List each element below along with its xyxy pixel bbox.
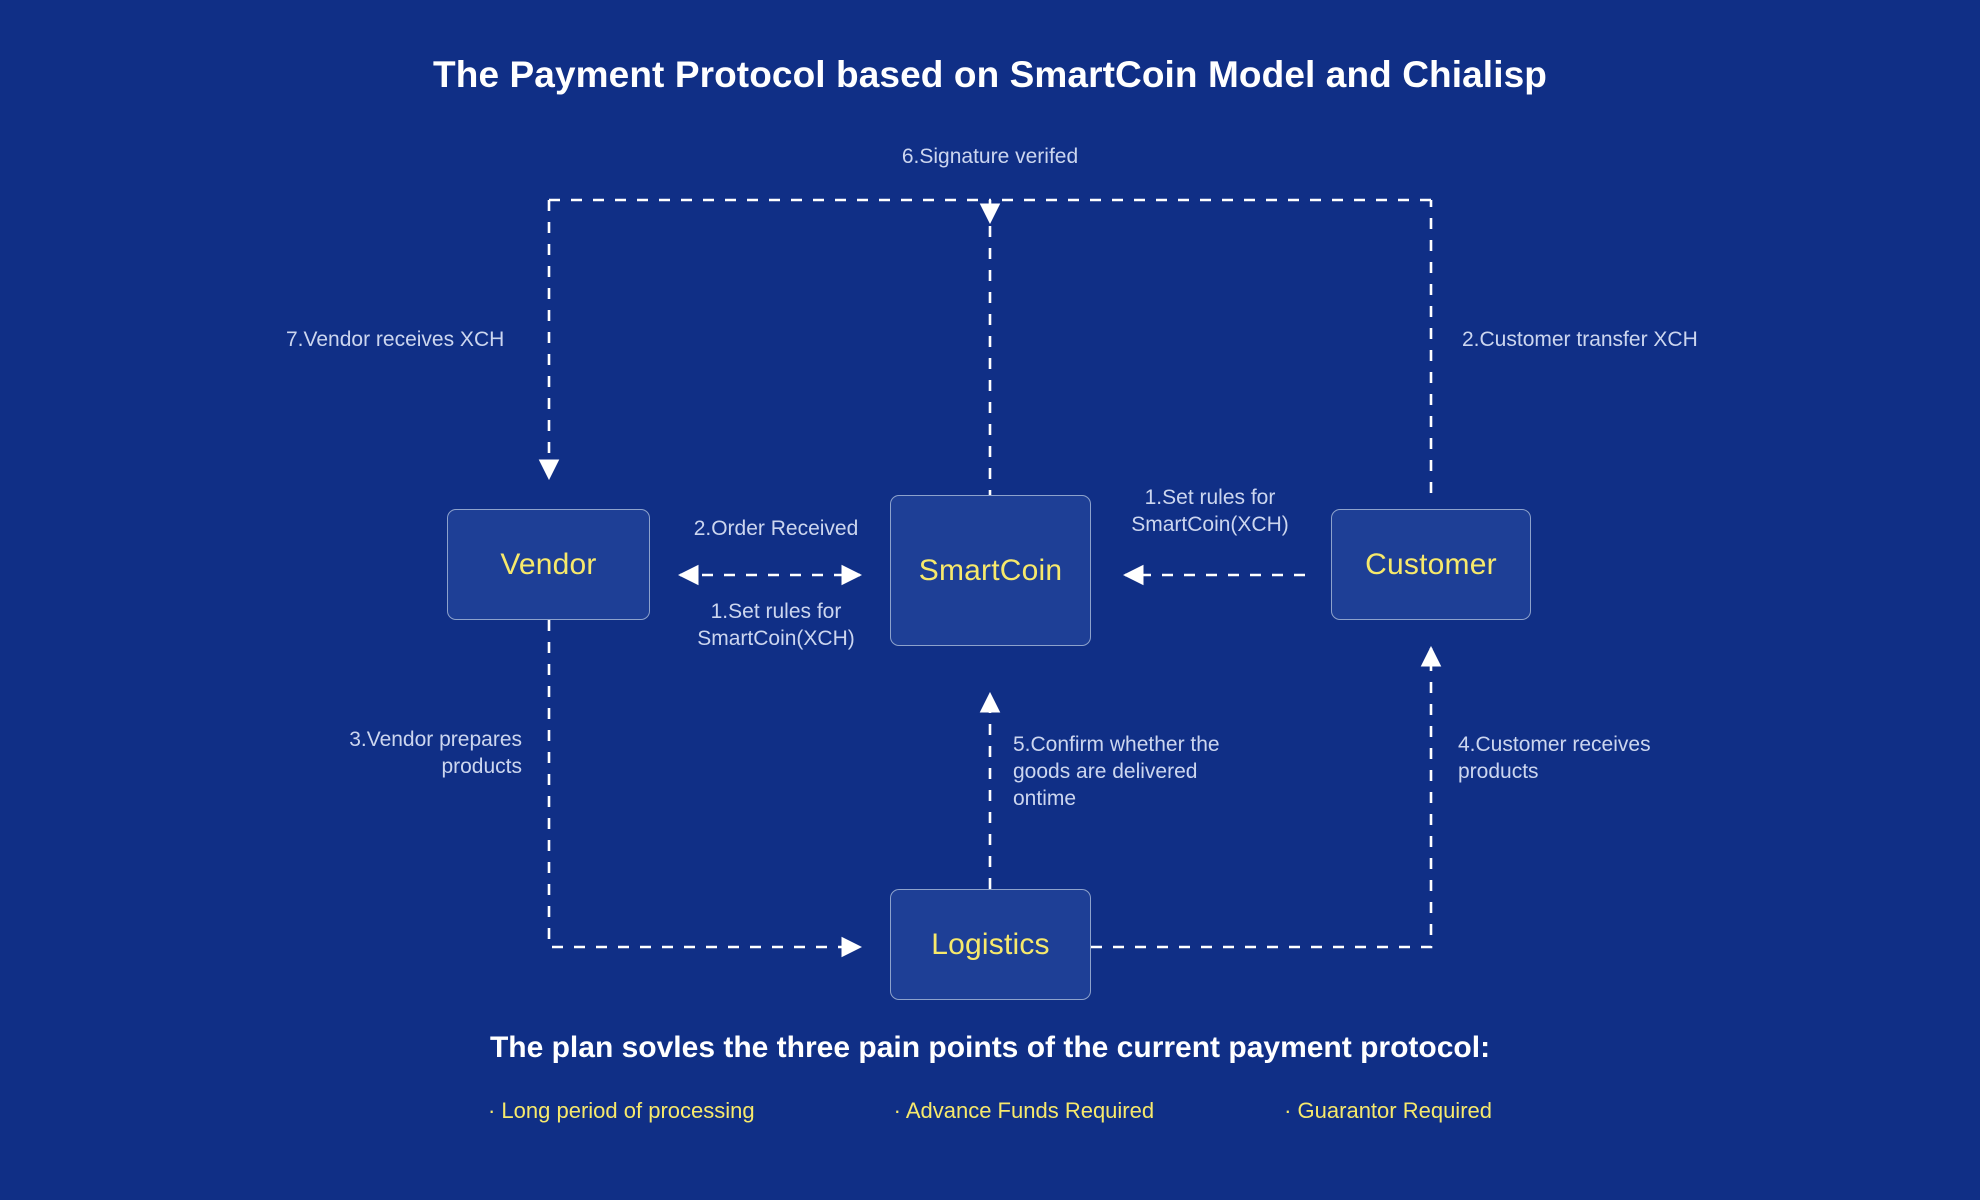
pain-point-item: · Guarantor Required (1284, 1098, 1492, 1124)
edge-label-signature-verified: 6.Signature verifed (0, 144, 1980, 171)
footer-heading: The plan sovles the three pain points of… (0, 1031, 1980, 1065)
diagram-canvas: The Payment Protocol based on SmartCoin … (0, 0, 1980, 1200)
node-smartcoin-label: SmartCoin (919, 554, 1063, 588)
edge-label-customer-transfer-xch: 2.Customer transfer XCH (1462, 327, 1782, 354)
pain-points-row: · Long period of processing · Advance Fu… (0, 1098, 1980, 1124)
edge-label-vendor-receives-xch: 7.Vendor receives XCH (286, 327, 524, 354)
pain-point-item: · Advance Funds Required (894, 1098, 1155, 1124)
edge-label-set-rules-customer: 1.Set rules for SmartCoin(XCH) (1085, 485, 1335, 539)
edge-label-confirm-delivery: 5.Confirm whether the goods are delivere… (1013, 732, 1273, 813)
node-customer[interactable]: Customer (1331, 509, 1531, 620)
edge-label-vendor-prepares-products: 3.Vendor prepares products (300, 727, 522, 781)
edge-label-order-received: 2.Order Received (616, 516, 936, 543)
edge-label-set-rules-vendor: 1.Set rules for SmartCoin(XCH) (616, 599, 936, 653)
edge-vendor-prepares (549, 620, 860, 947)
edge-label-customer-receives-products: 4.Customer receives products (1458, 732, 1718, 786)
node-customer-label: Customer (1365, 548, 1497, 582)
node-logistics-label: Logistics (931, 928, 1050, 962)
pain-point-item: · Long period of processing (488, 1098, 755, 1124)
node-logistics[interactable]: Logistics (890, 889, 1091, 1000)
node-vendor-label: Vendor (500, 548, 596, 582)
